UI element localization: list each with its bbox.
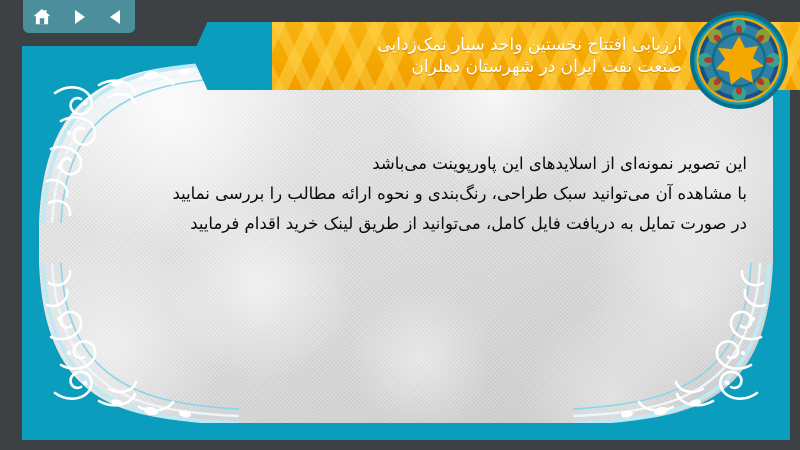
arabesque-corner-ornament-bottom-right — [573, 263, 773, 423]
arabesque-corner-ornament-bottom-left — [39, 263, 239, 423]
body-line: با مشاهده آن می‌توانید سبک طراحی، رنگ‌بن… — [79, 181, 747, 206]
body-line: در صورت تمایل به دریافت فایل کامل، می‌تو… — [79, 211, 747, 236]
home-button[interactable] — [28, 3, 56, 31]
home-icon — [32, 7, 52, 27]
banner-chevron-notch — [192, 22, 278, 90]
triangle-left-icon — [107, 8, 125, 26]
slide-title-line-2: صنعت نفت ایران در شهرستان دهلران — [286, 56, 682, 78]
triangle-right-icon — [70, 8, 88, 26]
body-line: این تصویر نمونه‌ای از اسلایدهای این پاور… — [79, 151, 747, 176]
slide-body-text: این تصویر نمونه‌ای از اسلایدهای این پاور… — [79, 151, 747, 236]
next-slide-button[interactable] — [65, 3, 93, 31]
slide-title-line-1: ارزیابی افتتاح نخستین واحد سیار نمک‌زدای… — [286, 34, 682, 56]
slide-canvas: این تصویر نمونه‌ای از اسلایدهای این پاور… — [39, 63, 773, 423]
persian-medallion-icon — [687, 8, 791, 112]
slide-frame: این تصویر نمونه‌ای از اسلایدهای این پاور… — [22, 46, 790, 440]
slide-viewer: این تصویر نمونه‌ای از اسلایدهای این پاور… — [0, 0, 800, 450]
title-banner-group: ارزیابی افتتاح نخستین واحد سیار نمک‌زدای… — [192, 8, 800, 100]
previous-slide-button[interactable] — [102, 3, 130, 31]
navigation-toolbar — [23, 0, 135, 33]
